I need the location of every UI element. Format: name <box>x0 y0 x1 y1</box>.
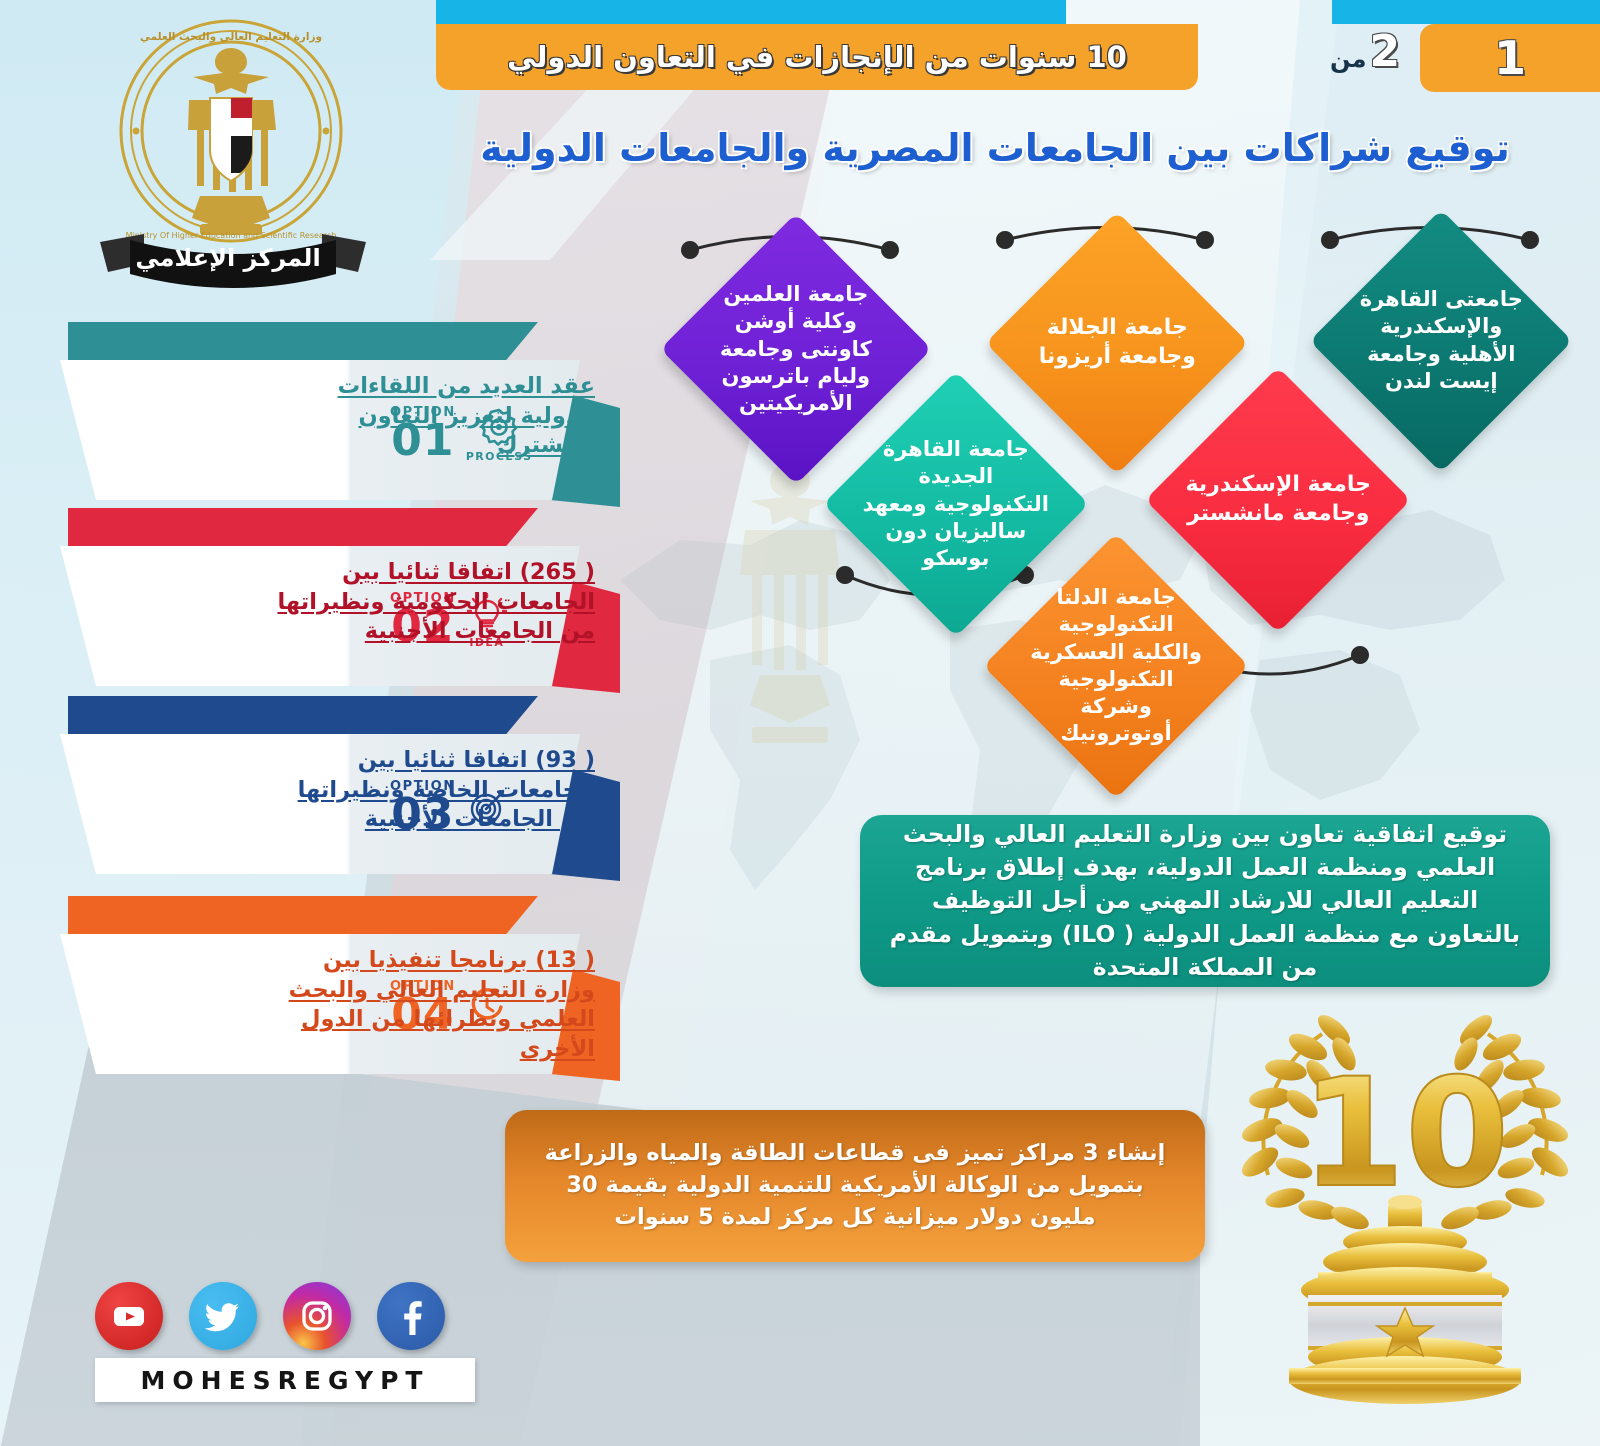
youtube-icon[interactable] <box>95 1282 163 1350</box>
option-card-01[interactable]: OPTION 01 PROCESS عقد العديد من اللقاءات… <box>60 322 620 507</box>
header-banner: 10 سنوات من الإنجازات في التعاون الدولي <box>436 24 1198 90</box>
option-card-04[interactable]: OPTION 04 ( 13) برنامجا تنفيذيا بين وزار… <box>60 896 620 1081</box>
option-04-text: ( 13) برنامجا تنفيذيا بين وزارة التعليم … <box>275 946 595 1065</box>
header-banner-label: 10 سنوات من الإنجازات في التعاون الدولي <box>507 40 1127 74</box>
ministry-seal-icon: وزارة التعليم العالي والبحث العلمي Minis… <box>118 18 344 244</box>
header-cyan-bar-right <box>1332 0 1600 24</box>
diamond-cairo-alex-label: جامعتى القاهرة والإسكندرية الأهلية وجامع… <box>1348 286 1534 395</box>
social-links[interactable] <box>95 1282 445 1350</box>
instagram-icon[interactable] <box>283 1282 351 1350</box>
seal-arabic-ring-text: وزارة التعليم العالي والبحث العلمي <box>140 31 322 43</box>
emblem-number: 10 <box>1301 1047 1510 1221</box>
info-box-usaid-text: إنشاء 3 مراكز تميز فى قطاعات الطاقة والم… <box>505 1138 1205 1234</box>
page-of-word: من <box>1330 45 1366 73</box>
info-box-usaid-centers: إنشاء 3 مراكز تميز فى قطاعات الطاقة والم… <box>505 1110 1205 1262</box>
page-number: 1 <box>1494 31 1526 85</box>
option-card-03[interactable]: OPTION 03 ( 93) اتفاقا ثنائيا بين الجامع… <box>60 696 620 881</box>
social-handle: MOHESREGYPT <box>95 1358 475 1402</box>
diamond-alexandria-label: جامعة الإسكندرية وجامعة مانشستر <box>1184 471 1372 528</box>
ribbon-label: المركز الإعلامي <box>78 244 378 272</box>
page-total-number: 2 <box>1369 26 1400 77</box>
diamond-olamein-label: جامعة العلمين وكلية أوشن كاونتى وجامعة و… <box>700 281 892 417</box>
page-title: توقيع شراكات بين الجامعات المصرية والجام… <box>430 126 1560 170</box>
laurel-trophy-icon: 10 <box>1210 990 1600 1420</box>
page-number-chip: 1 <box>1420 24 1600 92</box>
option-card-02[interactable]: OPTION 02 IDEA ( 265) اتفاقا ثنائيا بين … <box>60 508 620 693</box>
facebook-icon[interactable] <box>377 1282 445 1350</box>
info-box-ilo-agreement: توقيع اتفاقية تعاون بين وزارة التعليم ال… <box>860 815 1550 987</box>
option-03-text: ( 93) اتفاقا ثنائيا بين الجامعات الخاصة … <box>275 746 595 835</box>
option-01-text: عقد العديد من اللقاءات الدولية لتعزيز ال… <box>275 372 595 461</box>
infographic-canvas: 10 سنوات من الإنجازات في التعاون الدولي … <box>0 0 1600 1446</box>
diamond-new-cairo-label: جامعة القاهرة الجديدة التكنولوجية ومعهد … <box>862 436 1050 572</box>
header-cyan-bar-left <box>436 0 1066 24</box>
option-02-text: ( 265) اتفاقا ثنائيا بين الجامعات الحكوم… <box>275 558 595 647</box>
ministry-logo: وزارة التعليم العالي والبحث العلمي Minis… <box>78 16 378 296</box>
diamond-delta-label: جامعة الدلتا التكنولوجية والكلية العسكري… <box>1022 584 1210 748</box>
diamond-galala-label: جامعة الجلالة وجامعة أريزونا <box>1024 314 1210 371</box>
twitter-icon[interactable] <box>189 1282 257 1350</box>
page-total-indicator: 2 من <box>1330 26 1400 77</box>
info-box-ilo-text: توقيع اتفاقية تعاون بين وزارة التعليم ال… <box>860 818 1550 985</box>
